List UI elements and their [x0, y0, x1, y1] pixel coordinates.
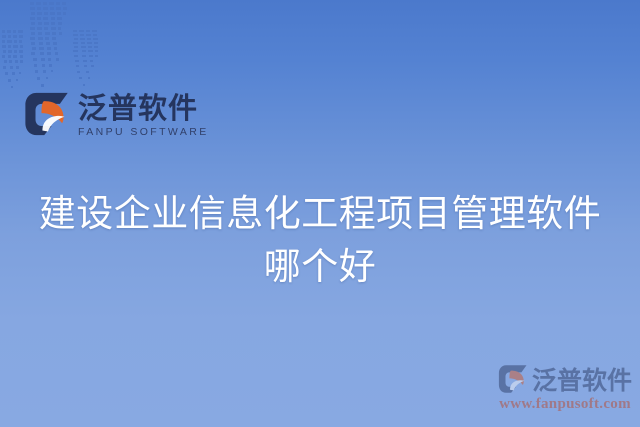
pixel-skyline-decoration [0, 0, 120, 96]
headline-line-2: 哪个好 [0, 241, 640, 294]
watermark-url: www.fanpusoft.com [499, 396, 631, 413]
brand-wordmark: 泛普软件 FANPU SOFTWARE [78, 91, 209, 138]
site-watermark: 泛普软件 www.fanpusoft.com [498, 361, 632, 413]
brand-logo: 泛普软件 FANPU SOFTWARE [24, 91, 209, 138]
skyline-tower-center [30, 2, 67, 87]
fanpu-watermark-mark-icon [498, 364, 528, 394]
headline-line-1: 建设企业信息化工程项目管理软件 [0, 188, 640, 241]
fanpu-logo-mark-icon [24, 91, 70, 137]
page-title: 建设企业信息化工程项目管理软件 哪个好 [0, 188, 640, 293]
skyline-tower-right [73, 30, 98, 86]
watermark-logo-row: 泛普软件 [498, 361, 632, 397]
brand-name-cn: 泛普软件 [78, 93, 209, 123]
skyline-tower-left [2, 30, 23, 88]
promo-banner: 泛普软件 FANPU SOFTWARE 建设企业信息化工程项目管理软件 哪个好 … [0, 0, 640, 427]
watermark-brand-name: 泛普软件 [532, 361, 632, 397]
brand-name-en: FANPU SOFTWARE [78, 126, 209, 138]
